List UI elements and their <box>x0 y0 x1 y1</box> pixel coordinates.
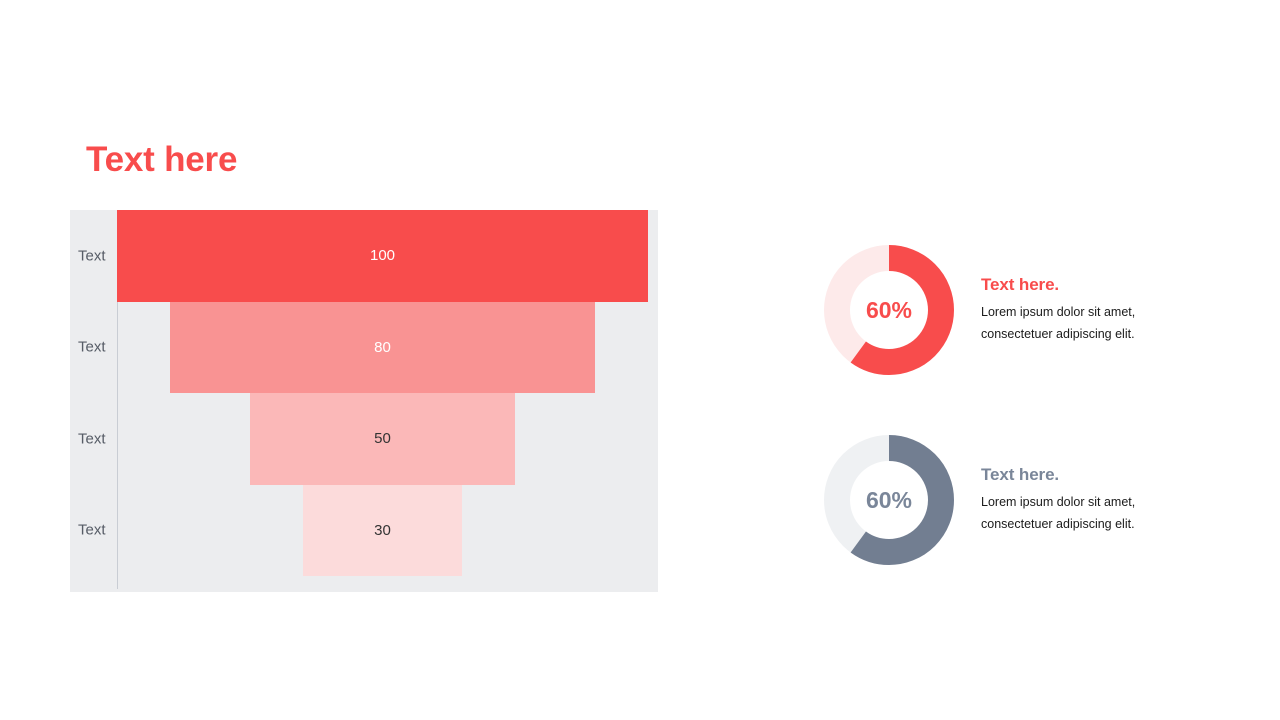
funnel-row: Text 100 <box>70 210 658 302</box>
funnel-bar-value: 100 <box>370 247 395 264</box>
funnel-row-label: Text <box>78 430 114 447</box>
funnel-row: Text 80 <box>70 302 658 394</box>
funnel-chart: Text 100 Text 80 Text 50 Text 30 <box>70 210 658 592</box>
funnel-row: Text 30 <box>70 485 658 577</box>
funnel-bar-value: 30 <box>374 522 391 539</box>
donut-percent-label: 60% <box>824 245 954 375</box>
funnel-row-label: Text <box>78 522 114 539</box>
funnel-bar[interactable]: 50 <box>250 393 516 485</box>
funnel-row: Text 50 <box>70 393 658 485</box>
stat-body: Lorem ipsum dolor sit amet, consectetuer… <box>981 492 1191 536</box>
funnel-bar[interactable]: 80 <box>170 302 595 394</box>
funnel-bar-value: 50 <box>374 430 391 447</box>
stat-block: 60% Text here. Lorem ipsum dolor sit ame… <box>824 435 1191 565</box>
stat-heading: Text here. <box>981 465 1191 485</box>
funnel-row-label: Text <box>78 247 114 264</box>
stat-body: Lorem ipsum dolor sit amet, consectetuer… <box>981 302 1191 346</box>
donut-chart-slate[interactable]: 60% <box>824 435 954 565</box>
stat-block: 60% Text here. Lorem ipsum dolor sit ame… <box>824 245 1191 375</box>
stat-text: Text here. Lorem ipsum dolor sit amet, c… <box>981 465 1191 536</box>
stat-heading: Text here. <box>981 275 1191 295</box>
funnel-bar[interactable]: 30 <box>303 485 462 577</box>
donut-percent-label: 60% <box>824 435 954 565</box>
page-title: Text here <box>86 140 237 180</box>
stat-text: Text here. Lorem ipsum dolor sit amet, c… <box>981 275 1191 346</box>
funnel-bar-value: 80 <box>374 339 391 356</box>
funnel-row-label: Text <box>78 339 114 356</box>
funnel-bar[interactable]: 100 <box>117 210 648 302</box>
donut-chart-red[interactable]: 60% <box>824 245 954 375</box>
